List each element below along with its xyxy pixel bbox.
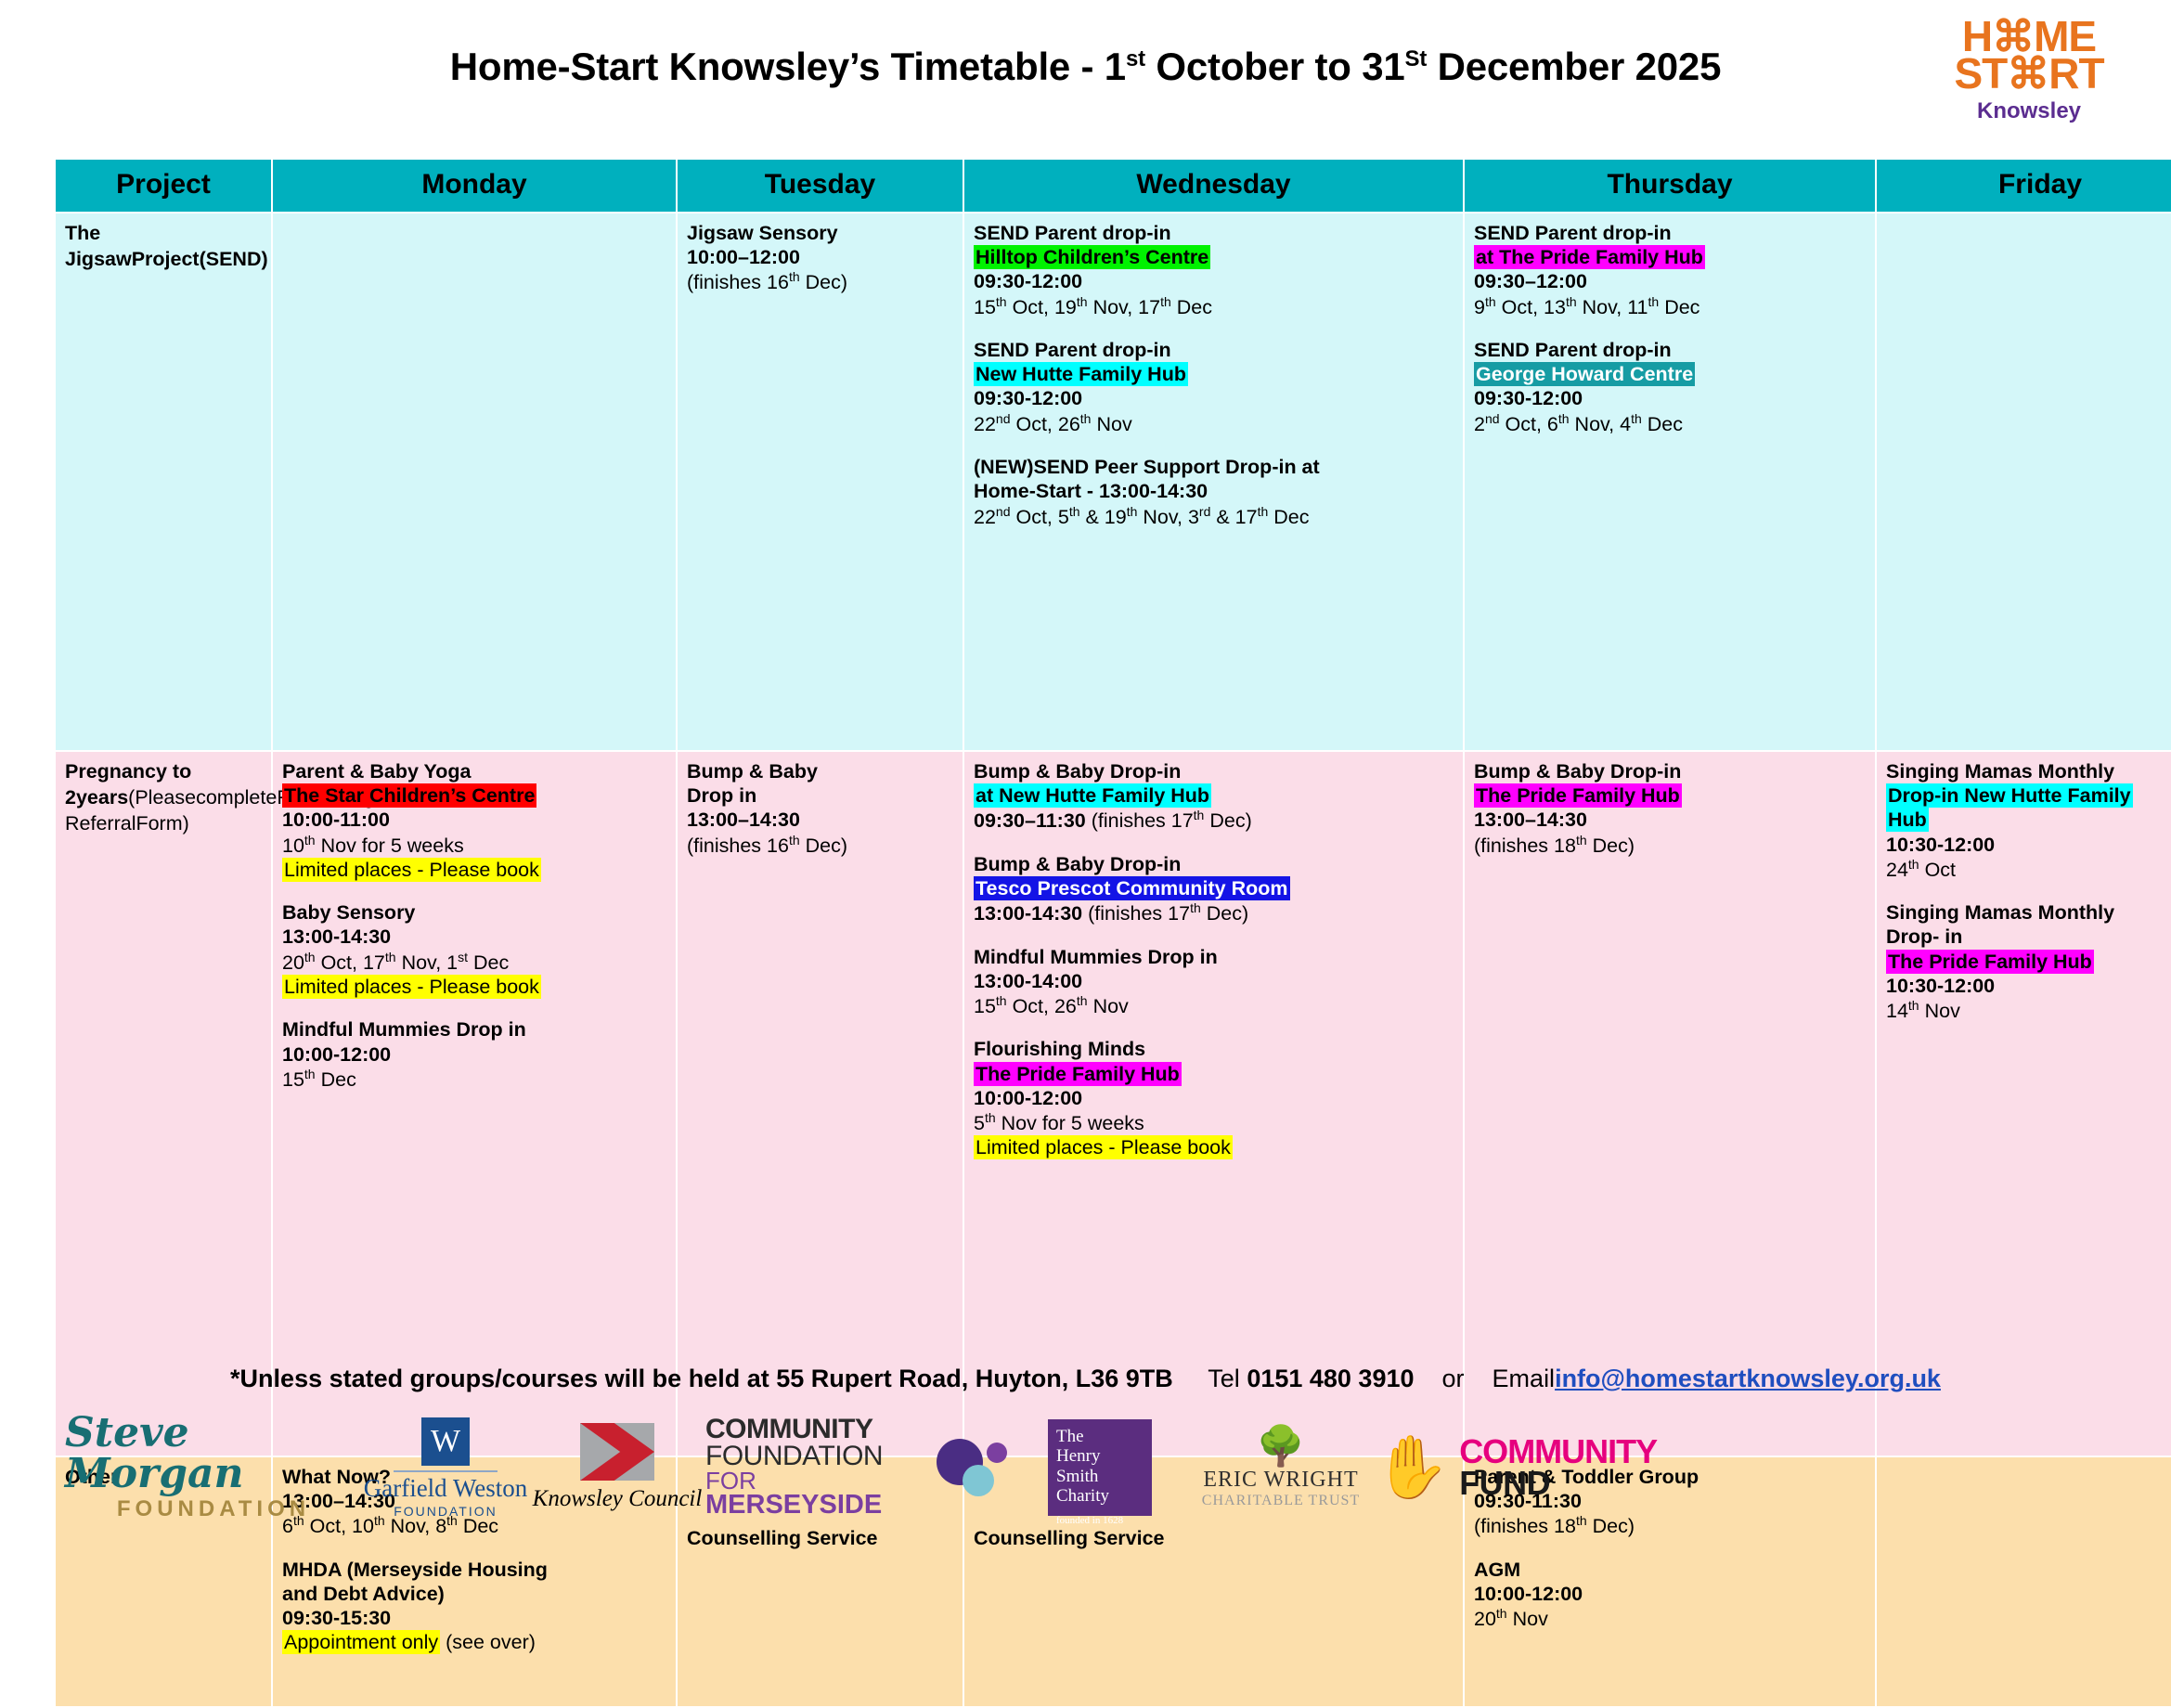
column-header-wednesday: Wednesday [963,159,1464,213]
cfm-line-2: FOUNDATION [705,1443,931,1470]
session-block: Singing Mamas MonthlyDrop- inThe Pride F… [1886,900,2171,1023]
cell-line: Hilltop Children’s Centre [974,245,1454,269]
cell-time: 09:30–11:30 [974,810,1086,833]
ordinal-suffix: th [1080,411,1092,426]
session-block: SEND Parent drop-inNew Hutte Family Hub0… [974,338,1454,436]
title-ordinal-2: St [1405,46,1428,71]
session-block: Jigsaw Sensory10:00–12:00(finishes 16th … [687,221,953,295]
highlighted-text: at New Hutte Family Hub [974,783,1211,808]
cell-pregnancy-thursday: Bump & Baby Drop-in The Pride Family Hub… [1464,751,1876,1456]
cell-line: Appointment only (see over) [282,1630,666,1654]
session-block: Bump & Baby Drop-inat New Hutte Family H… [974,759,1454,834]
session-block: Counselling Service [974,1526,1454,1550]
highlighted-text: The Pride Family Hub [1886,950,2094,974]
footer-venue-note: *Unless stated groups/courses will be he… [230,1365,1173,1392]
title-part-2: October to 31 [1145,45,1405,88]
project-label-line: complete [196,786,277,809]
cfm-circles-icon [937,1437,1012,1498]
cell-line: Singing Mamas Monthly [1886,759,2171,783]
logo-line-knowsley: Knowsley [1941,100,2117,123]
cell-content: SEND Parent drop-in Hilltop Children’s C… [974,221,1454,529]
cell-line: Parent & Baby Yoga [282,759,666,783]
cell-jigsaw-friday [1876,213,2171,751]
cell-line: 09:30-15:30 [282,1606,666,1630]
cell-line: (finishes 18th Dec) [1474,833,1866,858]
cell-line: 10:00-12:00 [282,1042,666,1067]
project-label-line: (SEND) [200,248,268,270]
page-title: Home-Start Knowsley’s Timetable - 1st Oc… [0,45,2171,89]
cell-line: 09:30-12:00 [1474,386,1866,410]
logo-line-start: ST⌘RT [1941,52,2117,95]
ordinal-suffix: th [1576,833,1587,848]
table-row-pregnancy: Pregnancy to 2years(PleasecompleteFlouri… [55,751,2171,1456]
cell-line: 09:30-12:00 [974,269,1454,293]
column-header-thursday: Thursday [1464,159,1876,213]
cell-content: SEND Parent drop-inat The Pride Family H… [1474,221,1866,436]
cell-line: 15th Oct, 19th Nov, 17th Dec [974,294,1454,319]
cell-line: Bump & Baby Drop-in [1474,759,1866,783]
ordinal-suffix: th [996,294,1007,309]
cell-jigsaw-tuesday: Jigsaw Sensory10:00–12:00(finishes 16th … [677,213,963,751]
footer-tel-number: 0151 480 3910 [1247,1365,1414,1392]
column-header-monday: Monday [272,159,677,213]
page-header: Home-Start Knowsley’s Timetable - 1st Oc… [0,0,2171,149]
project-label-line: Form) [136,812,188,835]
highlighted-text: Limited places - Please book [282,975,541,999]
footer-email-label: Email [1493,1365,1556,1392]
cell-pregnancy-wednesday: Bump & Baby Drop-inat New Hutte Family H… [963,751,1464,1456]
cell-line: 13:00–14:30 [1474,808,1866,832]
knowsley-chevron-icon [580,1423,654,1481]
session-block: Bump & Baby Drop-inTesco Prescot Communi… [974,852,1454,926]
highlighted-text: The Pride Family Hub [974,1062,1182,1086]
cell-line: SEND Parent drop-in [974,338,1454,362]
cell-content: Bump & Baby Drop-in The Pride Family Hub… [1474,759,1866,858]
title-part-1: Home-Start Knowsley’s Timetable - 1 [450,45,1126,88]
session-block: Singing Mamas MonthlyDrop-in New Hutte F… [1886,759,2171,882]
highlighted-text: George Howard Centre [1474,362,1695,386]
cell-line: The Star Children’s Centre [282,783,666,808]
ordinal-suffix: th [1069,504,1080,519]
gwf-subtitle: FOUNDATION [394,1504,498,1519]
cell-line: 13:00-14:30 [282,925,666,949]
cell-line: 14th Nov [1886,998,2171,1023]
ordinal-suffix: th [1194,808,1205,822]
highlighted-text: Tesco Prescot Community Room [974,876,1290,900]
cell-line: Mindful Mummies Drop in [282,1017,666,1042]
timetable-page: Home-Start Knowsley’s Timetable - 1st Oc… [0,0,2171,1528]
footer-tel-label: Tel [1208,1365,1240,1392]
cell-content: Counselling Service [687,1526,953,1550]
highlighted-text: Hub [1886,808,1929,832]
cell-line: Home-Start - 13:00-14:30 [974,479,1454,503]
cell-line: The Pride Family Hub [974,1062,1454,1086]
ordinal-suffix: th [1558,411,1570,426]
project-cell-pregnancy: Pregnancy to 2years(PleasecompleteFlouri… [55,751,272,1456]
cell-line: (NEW)SEND Peer Support Drop-in at [974,455,1454,479]
column-header-friday: Friday [1876,159,2171,213]
ordinal-suffix: nd [996,411,1011,426]
logo-community-foundation-merseyside: COMMUNITY FOUNDATION FOR MERSEYSIDE [705,1409,1012,1526]
session-block: Bump & BabyDrop in13:00–14:30(finishes 1… [687,759,953,858]
cell-line: SEND Parent drop-in [1474,338,1866,362]
session-block: SEND Parent drop-inGeorge Howard Centre0… [1474,338,1866,436]
session-block: Baby Sensory13:00-14:3020th Oct, 17th No… [282,900,666,999]
highlighted-text: Hilltop Children’s Centre [974,245,1210,269]
ordinal-suffix: th [1631,411,1642,426]
highlighted-text: at The Pride Family Hub [1474,245,1705,269]
cell-content: Bump & Baby Drop-inat New Hutte Family H… [974,759,1454,1160]
cell-line: Singing Mamas Monthly [1886,900,2171,925]
cfm-line-3-merseyside: MERSEYSIDE [705,1490,882,1520]
cell-line: 10:00-12:00 [1474,1582,1866,1606]
footer-contact-line: *Unless stated groups/courses will be he… [0,1365,2171,1393]
home-start-knowsley-logo: H⌘ME ST⌘RT Knowsley [1941,15,2117,123]
cell-content: Singing Mamas MonthlyDrop-in New Hutte F… [1886,759,2171,1024]
ordinal-suffix: nd [996,504,1011,519]
cell-jigsaw-monday [272,213,677,751]
title-ordinal-1: st [1126,46,1145,71]
crossed-fingers-icon: ✋ [1374,1440,1450,1494]
hsc-line-3: Charity [1056,1486,1144,1506]
cell-line: 22nd Oct, 5th & 19th Nov, 3rd & 17th Dec [974,504,1454,529]
footer-email-link[interactable]: info@homestartknowsley.org.uk [1555,1365,1941,1392]
tree-icon: 🌳 [1257,1427,1305,1466]
cell-line: MHDA (Merseyside Housing [282,1558,666,1582]
highlighted-text: Appointment only [282,1630,440,1654]
ordinal-suffix: st [458,950,468,964]
project-label: The JigsawProject(SEND) [65,221,262,273]
cell-line: and Debt Advice) [282,1582,666,1606]
cell-time: 13:00-14:30 [974,902,1082,925]
table-header-row: Project Monday Tuesday Wednesday Thursda… [55,159,2171,213]
cell-line: SEND Parent drop-in [974,221,1454,245]
cf-line-1: COMMUNITY [1459,1436,1657,1468]
ordinal-suffix: th [1648,294,1660,309]
cell-jigsaw-thursday: SEND Parent drop-inat The Pride Family H… [1464,213,1876,751]
cell-line: 20th Nov [1474,1606,1866,1631]
ordinal-suffix: th [304,1067,316,1081]
ordinal-suffix: th [1190,900,1201,915]
logo-knowsley-council: Knowsley Council [529,1409,705,1526]
ordinal-suffix: rd [1199,504,1210,519]
cell-line: 10:30-12:00 [1886,833,2171,857]
cell-line: 09:30–12:00 [1474,269,1866,293]
cell-line: AGM [1474,1558,1866,1582]
cell-line: 15th Oct, 26th Nov [974,993,1454,1018]
cell-line: 22nd Oct, 26th Nov [974,411,1454,436]
ordinal-suffix: th [1908,998,1919,1013]
logo-eric-wright-charitable-trust: 🌳 ERIC WRIGHT CHARITABLE TRUST [1188,1409,1374,1526]
cell-line: 5th Nov for 5 weeks [974,1110,1454,1135]
cell-line: 24th Oct [1886,857,2171,882]
cell-line: 10:00–12:00 [687,245,953,269]
cell-line: Limited places - Please book [282,975,666,999]
funder-logos: Steve Morgan FOUNDATION W Garfield Westo… [65,1407,2107,1528]
cell-line: at The Pride Family Hub [1474,245,1866,269]
hsc-line-1: The [1056,1427,1144,1446]
cell-line: Drop-in New Hutte Family [1886,783,2171,808]
cell-pregnancy-friday: Singing Mamas MonthlyDrop-in New Hutte F… [1876,751,2171,1456]
cell-line: 13:00-14:00 [974,969,1454,993]
cell-line: 10:30-12:00 [1886,974,2171,998]
cell-line: George Howard Centre [1474,362,1866,386]
ewt-name: ERIC WRIGHT [1203,1468,1358,1493]
cell-line: Baby Sensory [282,900,666,925]
ordinal-suffix: th [996,993,1007,1008]
project-label-line: (Please [128,786,196,809]
cell-line: 09:30-12:00 [974,386,1454,410]
gwf-name: Garfield Weston [364,1476,528,1501]
cell-line: 15th Dec [282,1067,666,1092]
session-block: (NEW)SEND Peer Support Drop-in atHome-St… [974,455,1454,529]
cell-line: 09:30–11:30 (finishes 17th Dec) [974,808,1454,833]
table-row-jigsaw: The JigsawProject(SEND)Jigsaw Sensory10:… [55,213,2171,751]
project-label-line: years [76,786,128,809]
session-block: Flourishing MindsThe Pride Family Hub10:… [974,1037,1454,1159]
session-block: SEND Parent drop-in Hilltop Children’s C… [974,221,1454,319]
cell-line: Bump & Baby [687,759,953,783]
ordinal-suffix: th [789,269,800,284]
session-block: AGM10:00-12:0020th Nov [1474,1558,1866,1632]
table-head: Project Monday Tuesday Wednesday Thursda… [55,159,2171,213]
gwf-w-mark: W [421,1417,470,1466]
project-cell-jigsaw: The JigsawProject(SEND) [55,213,272,751]
cell-line: (finishes 16th Dec) [687,269,953,294]
ordinal-suffix: th [985,1110,996,1125]
cell-line: 13:00-14:30 (finishes 17th Dec) [974,900,1454,925]
session-block: Mindful Mummies Drop in13:00-14:0015th O… [974,945,1454,1019]
hsc-line-2: Henry Smith [1056,1446,1144,1486]
highlighted-text: The Star Children’s Centre [282,783,536,808]
cell-line: Tesco Prescot Community Room [974,876,1454,900]
cell-line: 10:00-12:00 [974,1086,1454,1110]
highlighted-text: Limited places - Please book [974,1135,1233,1159]
cell-line: The Pride Family Hub [1474,783,1866,808]
cell-line: Drop in [687,783,953,808]
cell-line: The Pride Family Hub [1886,950,2171,974]
logo-garfield-weston-foundation: W Garfield Weston FOUNDATION [362,1409,529,1526]
cell-line: Drop- in [1886,925,2171,949]
session-block: Counselling Service [687,1526,953,1550]
knowsley-name: Knowsley Council [533,1486,703,1512]
cell-line: 13:00–14:30 [687,808,953,832]
cell-content: Parent & Baby YogaThe Star Children’s Ce… [282,759,666,1092]
cell-line: 2nd Oct, 6th Nov, 4th Dec [1474,411,1866,436]
cf-line-2: FUND [1459,1468,1657,1499]
cell-line: Bump & Baby Drop-in [974,852,1454,876]
ordinal-suffix: th [1127,504,1138,519]
session-block: SEND Parent drop-inat The Pride Family H… [1474,221,1866,319]
ordinal-suffix: th [1077,993,1088,1008]
cell-line: Counselling Service [974,1526,1454,1550]
ordinal-suffix: th [304,950,316,964]
ordinal-suffix: th [1077,294,1088,309]
cell-line: SEND Parent drop-in [1474,221,1866,245]
cfm-line-1: COMMUNITY [705,1417,931,1443]
logo-henry-smith-charity: The Henry Smith Charity founded in 1628 [1012,1409,1188,1526]
cell-line: 9th Oct, 13th Nov, 11th Dec [1474,294,1866,319]
logo-national-lottery-community-fund: ✋ COMMUNITY FUND [1374,1409,1680,1526]
project-label-line: Project [132,248,200,270]
ordinal-suffix: nd [1485,411,1500,426]
cell-line: Counselling Service [687,1526,953,1550]
cell-content: Counselling Service [974,1526,1454,1550]
session-block: MHDA (Merseyside Housingand Debt Advice)… [282,1558,666,1655]
cell-line: 10:00-11:00 [282,808,666,832]
cell-line: Jigsaw Sensory [687,221,953,245]
logo-steve-morgan-foundation: Steve Morgan FOUNDATION [65,1409,362,1526]
smf-subtitle: FOUNDATION [117,1496,310,1522]
session-block: Mindful Mummies Drop in10:00-12:0015th D… [282,1017,666,1092]
footer-or: or [1442,1365,1465,1392]
session-block: Parent & Baby YogaThe Star Children’s Ce… [282,759,666,882]
ordinal-suffix: th [1566,294,1577,309]
ordinal-suffix: th [385,950,396,964]
ordinal-suffix: th [1258,504,1269,519]
project-label-line: The Jigsaw [65,222,132,270]
column-header-project: Project [55,159,272,213]
cell-line: Mindful Mummies Drop in [974,945,1454,969]
cell-line: Limited places - Please book [282,858,666,882]
cell-content: Jigsaw Sensory10:00–12:00(finishes 16th … [687,221,953,295]
cell-line: at New Hutte Family Hub [974,783,1454,808]
column-header-tuesday: Tuesday [677,159,963,213]
highlighted-text: The Pride Family Hub [1474,783,1682,808]
title-part-3: December 2025 [1427,45,1721,88]
cell-line: 20th Oct, 17th Nov, 1st Dec [282,950,666,975]
ordinal-suffix: th [1160,294,1171,309]
cell-line: Flourishing Minds [974,1037,1454,1061]
cell-line: (finishes 16th Dec) [687,833,953,858]
cell-line: New Hutte Family Hub [974,362,1454,386]
cell-line: 10th Nov for 5 weeks [282,833,666,858]
gwf-divider [394,1470,498,1472]
hsc-founded: founded in 1628 [1056,1515,1144,1526]
cell-jigsaw-wednesday: SEND Parent drop-in Hilltop Children’s C… [963,213,1464,751]
cell-pregnancy-monday: Parent & Baby YogaThe Star Children’s Ce… [272,751,677,1456]
cell-line: Hub [1886,808,2171,832]
ordinal-suffix: th [789,833,800,848]
ordinal-suffix: th [1908,857,1919,872]
cell-line: Bump & Baby Drop-in [974,759,1454,783]
highlighted-text: Drop-in New Hutte Family [1886,783,2133,808]
ordinal-suffix: th [304,833,316,848]
highlighted-text: Limited places - Please book [282,858,541,882]
project-label: Pregnancy to 2years(PleasecompleteFlouri… [65,759,262,837]
highlighted-text: New Hutte Family Hub [974,362,1188,386]
cell-line: Limited places - Please book [974,1135,1454,1159]
ordinal-suffix: th [1496,1606,1507,1621]
cell-pregnancy-tuesday: Bump & BabyDrop in13:00–14:30(finishes 1… [677,751,963,1456]
ordinal-suffix: th [1485,294,1496,309]
ewt-subtitle: CHARITABLE TRUST [1202,1493,1360,1509]
smf-name: Steve Morgan [65,1413,362,1494]
session-block: Bump & Baby Drop-in The Pride Family Hub… [1474,759,1866,858]
cell-content: Bump & BabyDrop in13:00–14:30(finishes 1… [687,759,953,858]
